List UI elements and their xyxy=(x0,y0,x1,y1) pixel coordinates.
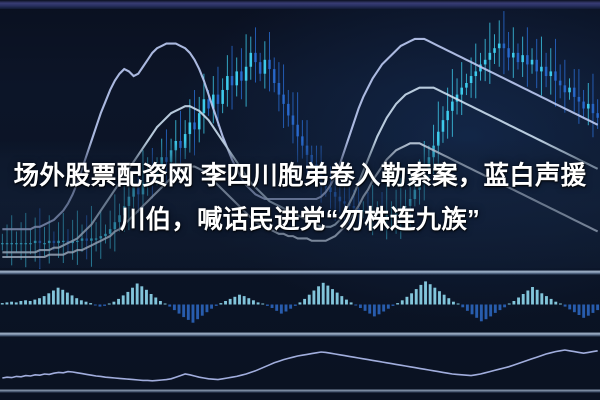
index-line-chart xyxy=(0,338,600,392)
macd-histogram-panel xyxy=(0,277,600,332)
article-thumbnail: 场外股票配资网 李四川胞弟卷入勒索案，蓝白声援川伯，喊话民进党“勿株连九族” xyxy=(0,0,600,400)
macd-bar-series xyxy=(1,281,599,322)
index-line-panel xyxy=(0,338,600,392)
panel-divider-footer xyxy=(0,389,600,393)
headline-text: 场外股票配资网 李四川胞弟卷入勒索案，蓝白声援川伯，喊话民进党“勿株连九族” xyxy=(0,154,600,242)
panel-divider-top xyxy=(0,270,600,275)
index-line xyxy=(2,350,597,381)
top-accent-band xyxy=(0,0,600,9)
macd-chart xyxy=(0,277,600,332)
panel-divider-bottom xyxy=(0,332,600,337)
